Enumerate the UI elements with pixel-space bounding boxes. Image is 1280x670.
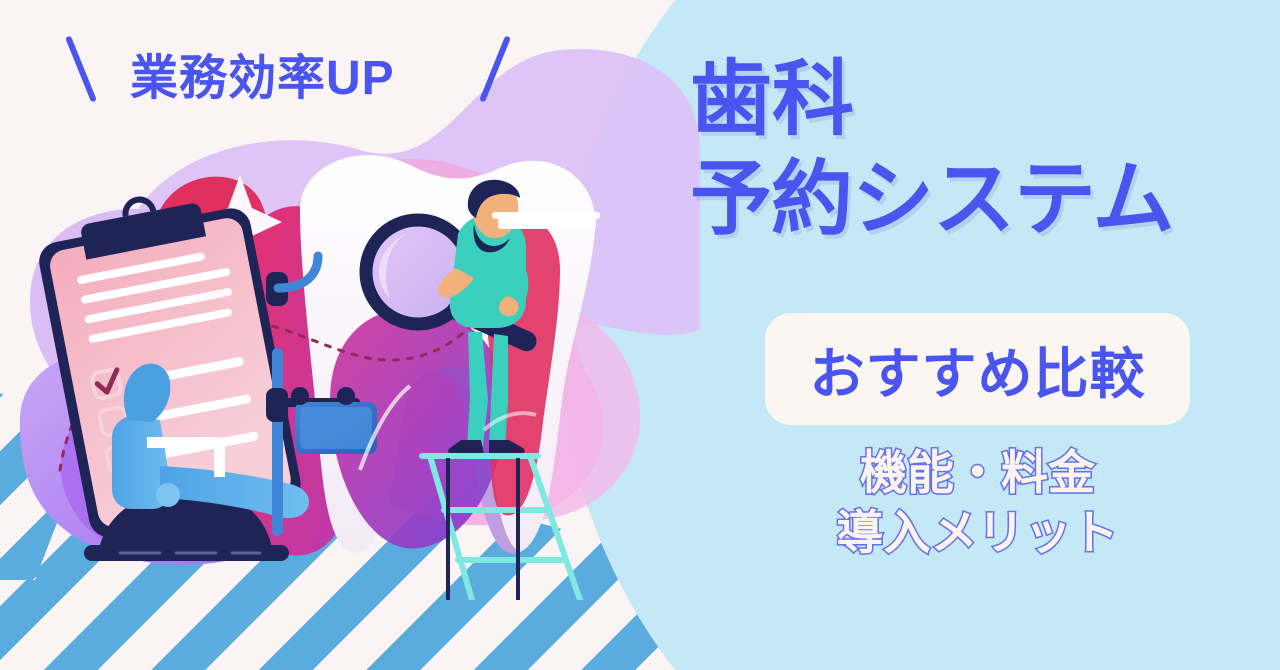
recommendation-badge: おすすめ比較 (765, 313, 1190, 425)
headline-line-2: 予約システム (690, 158, 1174, 242)
kicker-text: 業務効率UP (130, 38, 500, 108)
subtitle-line-1: 機能・料金 (690, 443, 1265, 503)
headline: 歯科 予約システム (690, 58, 1174, 241)
badge-label: おすすめ比較 (809, 329, 1145, 409)
decor-white-line-3 (498, 222, 596, 229)
subtitle-line-2: 導入メリット (690, 503, 1265, 563)
subtitle-block: 機能・料金 導入メリット (690, 443, 1265, 563)
headline-line-1: 歯科 (690, 54, 854, 145)
chair-pivot (156, 483, 180, 507)
banner-canvas: 業務効率UP 歯科 予約システム おすすめ比較 機能・料金 導入メリット (0, 0, 1280, 670)
